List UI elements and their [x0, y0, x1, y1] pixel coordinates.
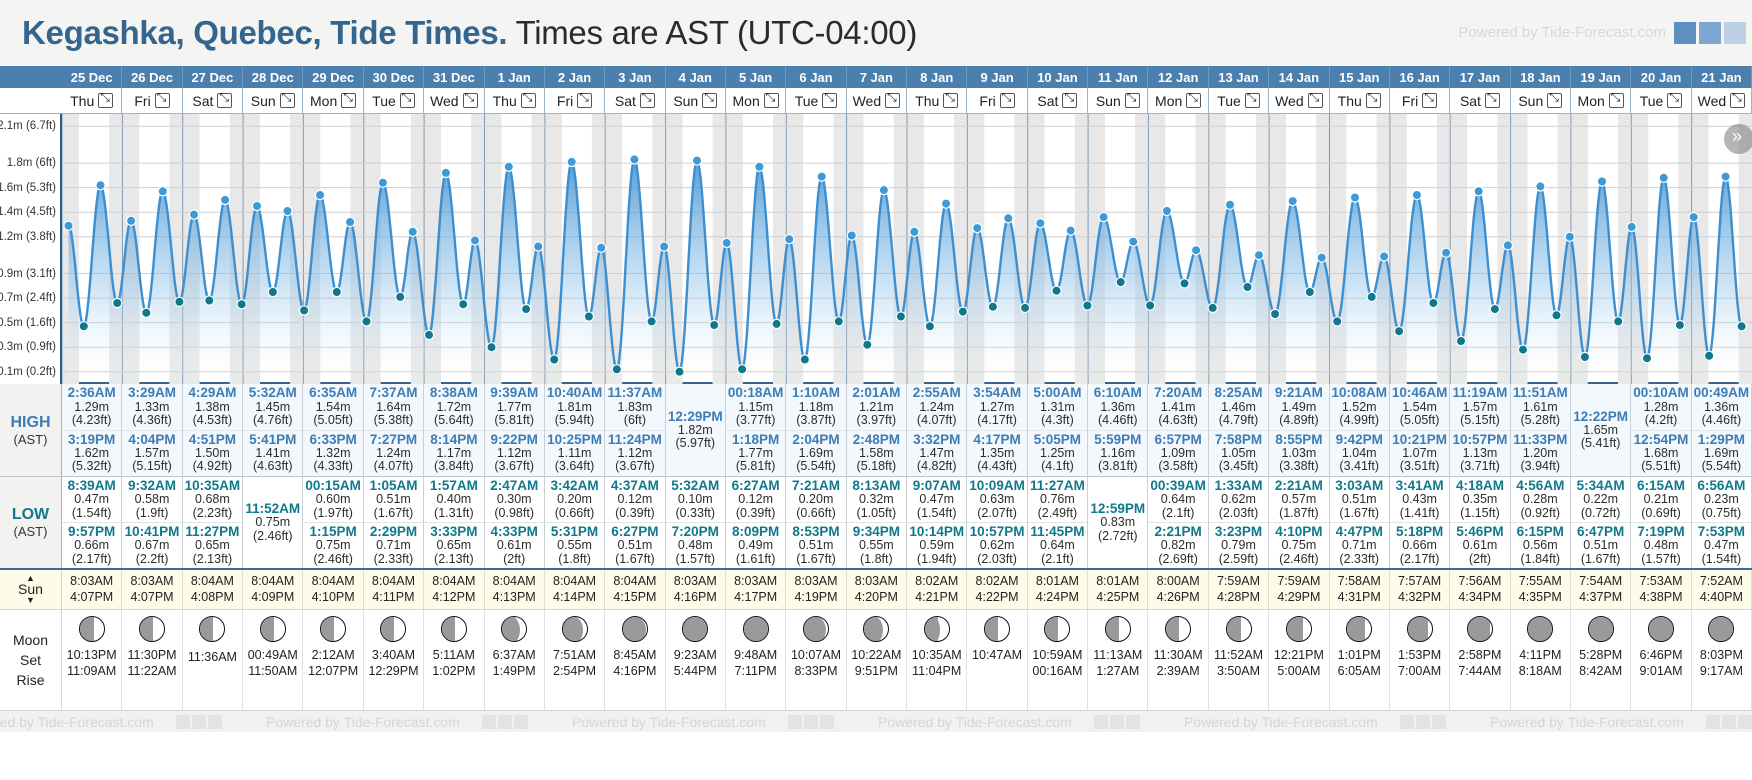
- date-header-cell[interactable]: 12 Jan: [1148, 66, 1208, 88]
- sunset-time: 4:17PM: [734, 590, 777, 606]
- weekday-header-cell[interactable]: Fri: [545, 88, 605, 113]
- low-tide-height-m: 0.48m: [1644, 539, 1679, 552]
- low-tide-entry: 3:41AM0.43m(1.41ft): [1390, 477, 1449, 522]
- date-header-cell[interactable]: 29 Dec: [303, 66, 363, 88]
- high-tide-height-ft: (5.05ft): [1400, 414, 1440, 427]
- high-tide-height-ft: (3.87ft): [796, 414, 836, 427]
- moon-phase-icon: [1407, 616, 1433, 642]
- weekday-header-cell[interactable]: Sat: [605, 88, 665, 113]
- high-tide-height-ft: (4.07ft): [917, 414, 957, 427]
- moon-phase-icon: [380, 616, 406, 642]
- low-tide-height-m: 0.76m: [1040, 493, 1075, 506]
- expand-icon[interactable]: [1000, 93, 1015, 108]
- expand-icon[interactable]: [1366, 93, 1381, 108]
- refresh-icon[interactable]: [498, 715, 512, 729]
- high-tide-height-ft: (4.99ft): [1339, 414, 1379, 427]
- low-tide-height-ft: (1.54ft): [917, 507, 957, 520]
- low-tide-cell: 1:05AM0.51m(1.67ft)2:29PM0.71m(2.33ft): [364, 477, 424, 568]
- high-tide-time: 2:04PM: [792, 433, 839, 447]
- expand-icon[interactable]: [1547, 93, 1562, 108]
- high-tide-height-m: 1.32m: [316, 447, 351, 460]
- moon-cell: 10:59AM00:16AM: [1028, 610, 1088, 710]
- high-tide-cell: 11:19AM1.57m(5.15ft)10:57PM1.13m(3.71ft): [1450, 384, 1510, 476]
- high-tide-time: 4:17PM: [973, 433, 1020, 447]
- expand-icon[interactable]: [341, 93, 356, 108]
- high-tide-entry: 8:25AM1.46m(4.79ft): [1209, 384, 1268, 430]
- low-tide-height-m: 0.61m: [1463, 539, 1498, 552]
- moon-phase-icon: [1588, 616, 1614, 642]
- low-tide-entry: 6:27PM0.51m(1.67ft): [605, 522, 664, 568]
- sunrise-time: 8:04AM: [613, 574, 656, 590]
- high-tide-height-m: 1.17m: [436, 447, 471, 460]
- low-tide-entry: 9:32AM0.58m(1.9ft): [122, 477, 181, 522]
- date-header-cell[interactable]: 2 Jan: [545, 66, 605, 88]
- high-tide-height-m: 1.54m: [1402, 401, 1437, 414]
- sunset-time: 4:14PM: [553, 590, 596, 606]
- expand-icon[interactable]: [1667, 93, 1682, 108]
- high-tide-height-m: 1.69m: [1704, 447, 1739, 460]
- moon-phase-icon: [1165, 616, 1191, 642]
- high-tide-height-m: 1.20m: [1523, 447, 1558, 460]
- high-tide-time: 8:55PM: [1275, 433, 1322, 447]
- moonrise-time: 4:16PM: [613, 664, 656, 678]
- moon-phase-icon: [1044, 616, 1070, 642]
- date-header-cell[interactable]: 5 Jan: [726, 66, 786, 88]
- expand-icon[interactable]: [1125, 93, 1140, 108]
- high-tide-height-ft: (3.97ft): [857, 414, 897, 427]
- expand-icon[interactable]: [640, 93, 655, 108]
- share-icon[interactable]: [514, 715, 528, 729]
- date-header-cell[interactable]: 10 Jan: [1028, 66, 1088, 88]
- share-icon[interactable]: [820, 715, 834, 729]
- low-tide-time: 7:19PM: [1637, 525, 1684, 539]
- high-tide-height-m: 1.38m: [195, 401, 230, 414]
- expand-icon[interactable]: [764, 93, 779, 108]
- chart-icon[interactable]: [1706, 715, 1720, 729]
- high-tide-height-ft: (4.92ft): [193, 460, 233, 473]
- high-tide-height-m: 1.07m: [1402, 447, 1437, 460]
- date-header-cell[interactable]: 25 Dec: [62, 66, 122, 88]
- weekday-header-cell[interactable]: Fri: [122, 88, 182, 113]
- chart-icon[interactable]: [1674, 22, 1696, 44]
- high-tide-time: 2:36AM: [68, 386, 116, 400]
- high-tide-time: 11:37AM: [608, 386, 663, 400]
- high-tide-entry: 3:19PM1.62m(5.32ft): [62, 430, 121, 477]
- date-header-cell[interactable]: 16 Jan: [1390, 66, 1450, 88]
- y-axis-tick-label: 0.9m (3.1ft): [0, 268, 56, 280]
- high-tide-height-m: 1.36m: [1704, 401, 1739, 414]
- moonset-time: 9:48AM: [734, 648, 777, 662]
- date-header-cell[interactable]: 8 Jan: [907, 66, 967, 88]
- moon-cells: 10:13PM11:09AM11:30PM11:22AM11:36AM00:49…: [62, 610, 1752, 710]
- low-tide-time: 7:21AM: [792, 479, 840, 493]
- low-tide-label: LOW (AST): [0, 477, 62, 568]
- expand-icon[interactable]: [1609, 93, 1624, 108]
- low-tide-entry: 1:57AM0.40m(1.31ft): [424, 477, 483, 522]
- sunrise-time: 8:03AM: [674, 574, 717, 590]
- high-tide-height-ft: (5.97ft): [675, 437, 715, 450]
- low-tide-entry: 1:33AM0.62m(2.03ft): [1209, 477, 1268, 522]
- low-tide-time: 8:13AM: [852, 479, 900, 493]
- low-tide-height-m: 0.55m: [859, 539, 894, 552]
- low-tide-time: 5:46PM: [1456, 525, 1503, 539]
- date-header-cell[interactable]: 15 Jan: [1330, 66, 1390, 88]
- sun-cell: 8:03AM4:07PM: [122, 570, 182, 609]
- low-tide-height-ft: (1.9ft): [136, 507, 169, 520]
- high-tide-time: 5:05PM: [1034, 433, 1081, 447]
- share-icon[interactable]: [1126, 715, 1140, 729]
- date-header-cell[interactable]: 3 Jan: [605, 66, 665, 88]
- weekday-header-cell[interactable]: Thu: [1330, 88, 1390, 113]
- moon-phase-icon: [1708, 616, 1734, 642]
- low-tide-entry: 4:37AM0.12m(0.39ft): [605, 477, 664, 522]
- low-tide-entry: 6:27AM0.12m(0.39ft): [726, 477, 785, 522]
- refresh-icon[interactable]: [1722, 715, 1736, 729]
- moon-phase-icon: [1226, 616, 1252, 642]
- moon-cell: 10:13PM11:09AM: [62, 610, 122, 710]
- high-tide-time: 1:29PM: [1698, 433, 1745, 447]
- low-tide-time: 11:52AM: [245, 502, 300, 516]
- chart-scroll-handle[interactable]: [1724, 124, 1752, 154]
- expand-icon[interactable]: [521, 93, 536, 108]
- chart-icon[interactable]: [788, 715, 802, 729]
- weekday-header-cell[interactable]: Thu: [62, 88, 122, 113]
- moonrise-time: 1:27AM: [1096, 664, 1139, 678]
- sunrise-time: 8:01AM: [1036, 574, 1079, 590]
- sunrise-time: 7:54AM: [1579, 574, 1622, 590]
- weekday-header-cell[interactable]: Mon: [1571, 88, 1631, 113]
- high-tide-height-m: 1.64m: [376, 401, 411, 414]
- weekday-header-cell[interactable]: Thu: [485, 88, 545, 113]
- page-title: Kegashka, Quebec, Tide Times. Times are …: [22, 14, 917, 52]
- low-tide-height-m: 0.20m: [557, 493, 592, 506]
- high-tide-height-ft: (3.41ft): [1339, 460, 1379, 473]
- expand-icon[interactable]: [1730, 93, 1745, 108]
- high-tide-entry: 8:14PM1.17m(3.84ft): [424, 430, 483, 477]
- high-tide-entry: 12:29PM1.82m(5.97ft): [666, 384, 725, 476]
- share-icon[interactable]: [1724, 22, 1746, 44]
- date-header-cell[interactable]: 4 Jan: [666, 66, 726, 88]
- date-header-cell[interactable]: 9 Jan: [967, 66, 1027, 88]
- page-title-timezone: Times are AST (UTC-04:00): [516, 14, 917, 51]
- high-tide-height-m: 1.65m: [1583, 424, 1618, 437]
- low-tide-cell: 3:03AM0.51m(1.67ft)4:47PM0.71m(2.33ft): [1330, 477, 1390, 568]
- high-tide-time: 10:57PM: [1453, 433, 1508, 447]
- sunset-time: 4:10PM: [312, 590, 355, 606]
- sun-cell: 7:56AM4:34PM: [1450, 570, 1510, 609]
- sunset-time: 4:40PM: [1700, 590, 1743, 606]
- moon-label: Moon Set Rise: [0, 610, 62, 710]
- expand-icon[interactable]: [1422, 93, 1437, 108]
- moon-phase-icon: [199, 616, 225, 642]
- high-tide-entry: 8:38AM1.72m(5.64ft): [424, 384, 483, 430]
- high-tide-entry: 00:10AM1.28m(4.2ft): [1631, 384, 1690, 430]
- high-tide-cell: 4:29AM1.38m(4.53ft)4:51PM1.50m(4.92ft): [183, 384, 243, 476]
- refresh-icon[interactable]: [192, 715, 206, 729]
- low-tide-entry: 10:14PM0.59m(1.94ft): [907, 522, 966, 568]
- expand-icon[interactable]: [885, 93, 900, 108]
- high-tide-entry: 9:42PM1.04m(3.41ft): [1330, 430, 1389, 477]
- weekday-header-cell[interactable]: Mon: [726, 88, 786, 113]
- moon-cell: 12:21PM5:00AM: [1269, 610, 1329, 710]
- moonset-time: 5:11AM: [433, 648, 475, 662]
- weekday-header-cell[interactable]: Sun: [1088, 88, 1148, 113]
- moon-cell: 5:11AM1:02PM: [424, 610, 484, 710]
- low-tide-entry: 9:34PM0.55m(1.8ft): [847, 522, 906, 568]
- low-tide-time: 11:27AM: [1030, 479, 1085, 493]
- low-tide-height-ft: (2.46ft): [253, 530, 293, 543]
- high-tide-cell: 10:08AM1.52m(4.99ft)9:42PM1.04m(3.41ft): [1330, 384, 1390, 476]
- expand-icon[interactable]: [702, 93, 717, 108]
- weekday-header-cell[interactable]: Wed: [424, 88, 484, 113]
- low-tide-entry: 11:27AM0.76m(2.49ft): [1028, 477, 1087, 522]
- high-tide-time: 12:29PM: [668, 410, 723, 424]
- date-header-cell[interactable]: 19 Jan: [1571, 66, 1631, 88]
- expand-icon[interactable]: [463, 93, 478, 108]
- high-tide-entry: 7:20AM1.41m(4.63ft): [1148, 384, 1207, 430]
- high-tide-time: 10:21PM: [1392, 433, 1447, 447]
- low-tide-time: 3:33PM: [430, 525, 477, 539]
- sunrise-time: 8:01AM: [1096, 574, 1139, 590]
- high-tide-height-m: 1.05m: [1221, 447, 1256, 460]
- weekday-header-row: ThuFriSatSunMonTueWedThuFriSatSunMonTueW…: [0, 88, 1752, 114]
- sunrise-time: 7:56AM: [1458, 574, 1501, 590]
- moonrise-time: 12:29PM: [368, 664, 418, 678]
- share-icon[interactable]: [1432, 715, 1446, 729]
- refresh-icon[interactable]: [1699, 22, 1721, 44]
- date-header-cell[interactable]: 1 Jan: [485, 66, 545, 88]
- moonrise-time: 9:01AM: [1639, 664, 1682, 678]
- weekday-header-cell[interactable]: Wed: [1269, 88, 1329, 113]
- expand-icon[interactable]: [943, 93, 958, 108]
- chart-icon[interactable]: [176, 715, 190, 729]
- weekday-header-cell[interactable]: Sun: [666, 88, 726, 113]
- low-tide-height-ft: (2.2ft): [136, 553, 169, 566]
- low-tide-time: 2:21AM: [1275, 479, 1323, 493]
- chart-icon[interactable]: [1094, 715, 1108, 729]
- sunrise-time: 8:03AM: [70, 574, 113, 590]
- low-tide-height-ft: (1.61ft): [736, 553, 776, 566]
- low-tide-height-ft: (1.15ft): [1460, 507, 1500, 520]
- weekday-header-cell[interactable]: Thu: [907, 88, 967, 113]
- sunrise-time: 7:52AM: [1700, 574, 1743, 590]
- sun-cell: 8:02AM4:22PM: [967, 570, 1027, 609]
- high-tide-height-m: 1.58m: [859, 447, 894, 460]
- moon-phase-icon: [1286, 616, 1312, 642]
- expand-icon[interactable]: [155, 93, 170, 108]
- chart-plot-area[interactable]: [62, 114, 1752, 384]
- expand-icon[interactable]: [400, 93, 415, 108]
- weekday-header-cell[interactable]: Wed: [1692, 88, 1752, 113]
- moon-cell: 8:03PM9:17AM: [1692, 610, 1752, 710]
- y-axis-tick-label: 0.5m (1.6ft): [0, 317, 56, 329]
- high-tide-cell: 6:35AM1.54m(5.05ft)6:33PM1.32m(4.33ft): [303, 384, 363, 476]
- low-tide-time: 10:41PM: [125, 525, 180, 539]
- sunset-time: 4:16PM: [674, 590, 717, 606]
- chart-icon[interactable]: [1400, 715, 1414, 729]
- moon-cell: 11:30AM2:39AM: [1148, 610, 1208, 710]
- low-tide-entry: 7:20PM0.48m(1.57ft): [666, 522, 725, 568]
- expand-icon[interactable]: [1186, 93, 1201, 108]
- date-header-cell[interactable]: 6 Jan: [786, 66, 846, 88]
- high-tide-height-ft: (4.1ft): [1041, 460, 1074, 473]
- low-tide-height-m: 0.75m: [255, 516, 290, 529]
- moon-cell: 11:52AM3:50AM: [1209, 610, 1269, 710]
- date-header-cell[interactable]: 11 Jan: [1088, 66, 1148, 88]
- date-header-cell[interactable]: 7 Jan: [847, 66, 907, 88]
- high-tide-height-ft: (4.46ft): [1098, 414, 1138, 427]
- weekday-header-cell[interactable]: Wed: [847, 88, 907, 113]
- date-header-cell[interactable]: 20 Jan: [1631, 66, 1691, 88]
- high-tide-time: 7:58PM: [1215, 433, 1262, 447]
- footer-icon-group: [1094, 715, 1140, 729]
- high-tide-entry: 10:21PM1.07m(3.51ft): [1390, 430, 1449, 477]
- weekday-header-cell[interactable]: Tue: [364, 88, 424, 113]
- low-tide-cell: 3:41AM0.43m(1.41ft)5:18PM0.66m(2.17ft): [1390, 477, 1450, 568]
- low-tide-entry: 3:33PM0.65m(2.13ft): [424, 522, 483, 568]
- expand-icon[interactable]: [577, 93, 592, 108]
- sunrise-time: 7:53AM: [1639, 574, 1682, 590]
- date-header-cell[interactable]: 13 Jan: [1209, 66, 1269, 88]
- low-tide-label-tz: (AST): [14, 524, 48, 539]
- weekday-header-cell[interactable]: Tue: [1631, 88, 1691, 113]
- date-header-cell[interactable]: 17 Jan: [1450, 66, 1510, 88]
- date-header-cell[interactable]: 31 Dec: [424, 66, 484, 88]
- sun-cell: 7:52AM4:40PM: [1692, 570, 1752, 609]
- low-tide-height-m: 0.57m: [1281, 493, 1316, 506]
- weekday-label: Wed: [1698, 93, 1727, 109]
- low-tide-time: 6:56AM: [1697, 479, 1745, 493]
- sun-cell: 8:01AM4:25PM: [1088, 570, 1148, 609]
- low-tide-height-ft: (2.1ft): [1041, 553, 1074, 566]
- high-tide-height-ft: (5.81ft): [494, 414, 534, 427]
- low-tide-height-m: 0.64m: [1040, 539, 1075, 552]
- low-tide-height-m: 0.32m: [859, 493, 894, 506]
- low-tide-cell: 5:34AM0.22m(0.72ft)6:47PM0.51m(1.67ft): [1571, 477, 1631, 568]
- high-tide-time: 12:22PM: [1573, 410, 1628, 424]
- low-tide-height-m: 0.62m: [980, 539, 1015, 552]
- date-header-cell[interactable]: 27 Dec: [183, 66, 243, 88]
- sunset-time: 4:20PM: [855, 590, 898, 606]
- date-header-cell[interactable]: 30 Dec: [364, 66, 424, 88]
- expand-icon[interactable]: [1485, 93, 1500, 108]
- weekday-header-cell[interactable]: Tue: [786, 88, 846, 113]
- refresh-icon[interactable]: [804, 715, 818, 729]
- high-tide-entry: 6:33PM1.32m(4.33ft): [303, 430, 362, 477]
- high-tide-entry: 3:29AM1.33m(4.36ft): [122, 384, 181, 430]
- sunrise-time: 7:58AM: [1338, 574, 1381, 590]
- high-tide-height-m: 1.41m: [255, 447, 290, 460]
- share-icon[interactable]: [208, 715, 222, 729]
- refresh-icon[interactable]: [1110, 715, 1124, 729]
- low-tide-height-ft: (0.33ft): [675, 507, 715, 520]
- sunrise-time: 8:04AM: [372, 574, 415, 590]
- weekday-header-cell[interactable]: Sat: [1028, 88, 1088, 113]
- moon-phase-icon: [1346, 616, 1372, 642]
- weekday-header-cell[interactable]: Fri: [967, 88, 1027, 113]
- high-tide-entry: 12:22PM1.65m(5.41ft): [1571, 384, 1630, 476]
- low-tide-entry: 10:57PM0.62m(2.03ft): [967, 522, 1026, 568]
- low-tide-time: 11:27PM: [185, 525, 239, 539]
- date-header-cell[interactable]: 28 Dec: [243, 66, 303, 88]
- date-header-cell[interactable]: 21 Jan: [1692, 66, 1752, 88]
- high-tide-height-ft: (4.36ft): [132, 414, 172, 427]
- high-tide-height-ft: (4.63ft): [1158, 414, 1198, 427]
- expand-icon[interactable]: [98, 93, 113, 108]
- high-tide-height-ft: (5.15ft): [132, 460, 172, 473]
- date-header-cell[interactable]: 26 Dec: [122, 66, 182, 88]
- low-tide-time: 5:18PM: [1396, 525, 1443, 539]
- refresh-icon[interactable]: [1416, 715, 1430, 729]
- share-icon[interactable]: [1738, 715, 1752, 729]
- date-header-cell[interactable]: 14 Jan: [1269, 66, 1329, 88]
- low-tide-cell: 00:15AM0.60m(1.97ft)1:15PM0.75m(2.46ft): [303, 477, 363, 568]
- high-tide-entry: 11:24PM1.12m(3.67ft): [605, 430, 664, 477]
- low-tide-height-m: 0.58m: [135, 493, 170, 506]
- weekday-header-cell[interactable]: Mon: [1148, 88, 1208, 113]
- low-tide-cells: 8:39AM0.47m(1.54ft)9:57PM0.66m(2.17ft)9:…: [62, 477, 1752, 568]
- low-tide-entry: 00:15AM0.60m(1.97ft): [303, 477, 362, 522]
- expand-icon[interactable]: [280, 93, 295, 108]
- low-tide-entry: 1:15PM0.75m(2.46ft): [303, 522, 362, 568]
- high-tide-height-m: 1.45m: [255, 401, 290, 414]
- low-tide-time: 3:03AM: [1335, 479, 1383, 493]
- low-tide-time: 00:15AM: [305, 479, 361, 493]
- weekday-header-cell[interactable]: Sun: [1511, 88, 1571, 113]
- expand-icon[interactable]: [217, 93, 232, 108]
- moonset-time: 10:47AM: [972, 648, 1022, 662]
- low-tide-height-ft: (1.67ft): [615, 553, 655, 566]
- sun-cell: 8:01AM4:24PM: [1028, 570, 1088, 609]
- expand-icon[interactable]: [1308, 93, 1323, 108]
- chart-icon[interactable]: [482, 715, 496, 729]
- low-tide-time: 2:21PM: [1155, 525, 1202, 539]
- high-tide-cell: 00:10AM1.28m(4.2ft)12:54PM1.68m(5.51ft): [1631, 384, 1691, 476]
- high-tide-entry: 12:54PM1.68m(5.51ft): [1631, 430, 1690, 477]
- expand-icon[interactable]: [822, 93, 837, 108]
- weekday-header-cell[interactable]: Sun: [243, 88, 303, 113]
- high-tide-entry: 6:35AM1.54m(5.05ft): [303, 384, 362, 430]
- low-tide-height-m: 0.47m: [74, 493, 109, 506]
- high-tide-entry: 2:36AM1.29m(4.23ft): [62, 384, 121, 430]
- high-tide-cell: 3:29AM1.33m(4.36ft)4:04PM1.57m(5.15ft): [122, 384, 182, 476]
- weekday-label: Sun: [251, 93, 276, 109]
- moon-phase-icon: [1527, 616, 1553, 642]
- footer-powered-by: Powered by Tide-Forecast.com: [1184, 714, 1378, 730]
- weekday-header-cell[interactable]: Fri: [1390, 88, 1450, 113]
- date-header-cell[interactable]: 18 Jan: [1511, 66, 1571, 88]
- weekday-header-cell[interactable]: Sat: [1450, 88, 1510, 113]
- low-tide-height-ft: (2.33ft): [374, 553, 414, 566]
- expand-icon[interactable]: [1245, 93, 1260, 108]
- sunrise-time: 8:04AM: [251, 574, 294, 590]
- sunset-time: 4:21PM: [915, 590, 958, 606]
- low-tide-entry: 4:47PM0.71m(2.33ft): [1330, 522, 1389, 568]
- expand-icon[interactable]: [1062, 93, 1077, 108]
- weekday-header-cell[interactable]: Sat: [183, 88, 243, 113]
- weekday-header-cell[interactable]: Tue: [1209, 88, 1269, 113]
- low-tide-cell: 11:27AM0.76m(2.49ft)11:45PM0.64m(2.1ft): [1028, 477, 1088, 568]
- high-tide-height-ft: (5.51ft): [1641, 460, 1681, 473]
- footer-icon-group: [482, 715, 528, 729]
- high-tide-cells: 2:36AM1.29m(4.23ft)3:19PM1.62m(5.32ft)3:…: [62, 384, 1752, 476]
- low-tide-height-m: 0.30m: [497, 493, 532, 506]
- low-tide-time: 8:09PM: [732, 525, 779, 539]
- high-tide-time: 9:39AM: [490, 386, 538, 400]
- low-tide-time: 1:57AM: [430, 479, 478, 493]
- weekday-header-cell[interactable]: Mon: [303, 88, 363, 113]
- low-tide-height-ft: (1.8ft): [860, 553, 893, 566]
